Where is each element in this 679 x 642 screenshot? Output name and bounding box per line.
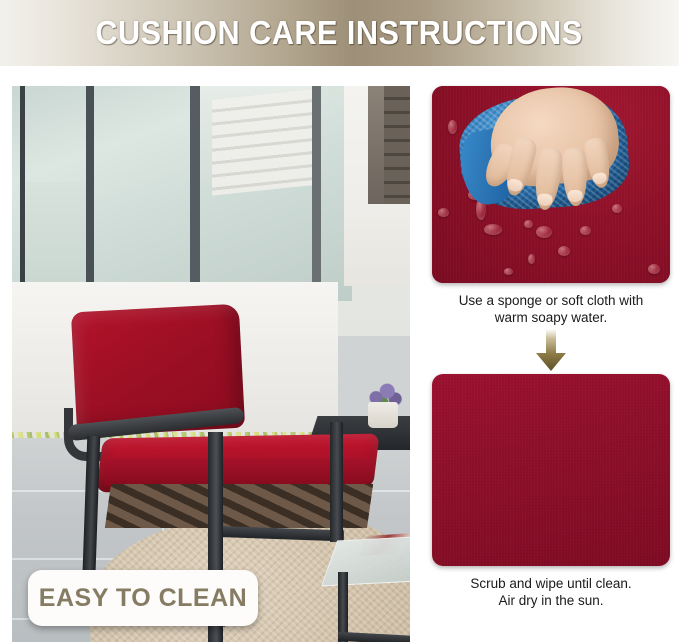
clean-red-fabric-photo [432,374,670,566]
water-droplet [528,254,535,264]
dark-louver-panel [384,86,410,204]
fingernail [537,193,553,207]
window-mullion [190,86,200,301]
water-droplet [438,208,449,217]
patio-chair-photo [12,86,410,642]
water-droplet [558,246,570,256]
water-droplet [504,268,513,275]
plant-pot [368,402,398,428]
water-droplet [580,226,591,235]
dark-door-panel [368,86,384,204]
fingernail [567,190,582,203]
step-2-caption-line-2: Air dry in the sun. [434,592,668,609]
water-droplet [648,264,660,274]
page-title: CUSHION CARE INSTRUCTIONS [96,14,583,52]
staircase [212,88,320,195]
water-droplet [524,220,533,228]
step-2-caption-line-1: Scrub and wipe until clean. [434,575,668,592]
water-droplet [448,120,457,134]
window-mullion [86,86,94,301]
step-2-caption: Scrub and wipe until clean. Air dry in t… [434,575,668,609]
window-mullion [312,86,321,301]
fingernail [592,172,608,185]
easy-to-clean-label: EASY TO CLEAN [39,584,247,613]
water-droplet [612,204,622,213]
step-1-caption-line-1: Use a sponge or soft cloth with [434,292,668,309]
arrow-down-icon [534,329,568,371]
water-droplet [484,224,502,235]
water-droplet [536,226,552,238]
chair-leg-back-right [330,422,343,542]
arrow-down-container [432,326,670,374]
fingernail [506,178,523,193]
hand-wiping-cloth-photo [432,86,670,283]
easy-to-clean-badge: EASY TO CLEAN [28,570,258,626]
care-steps-column: Use a sponge or soft cloth with warm soa… [432,86,670,642]
header-banner: CUSHION CARE INSTRUCTIONS [0,0,679,66]
step-1-caption: Use a sponge or soft cloth with warm soa… [434,292,668,326]
step-1-caption-line-2: warm soapy water. [434,309,668,326]
